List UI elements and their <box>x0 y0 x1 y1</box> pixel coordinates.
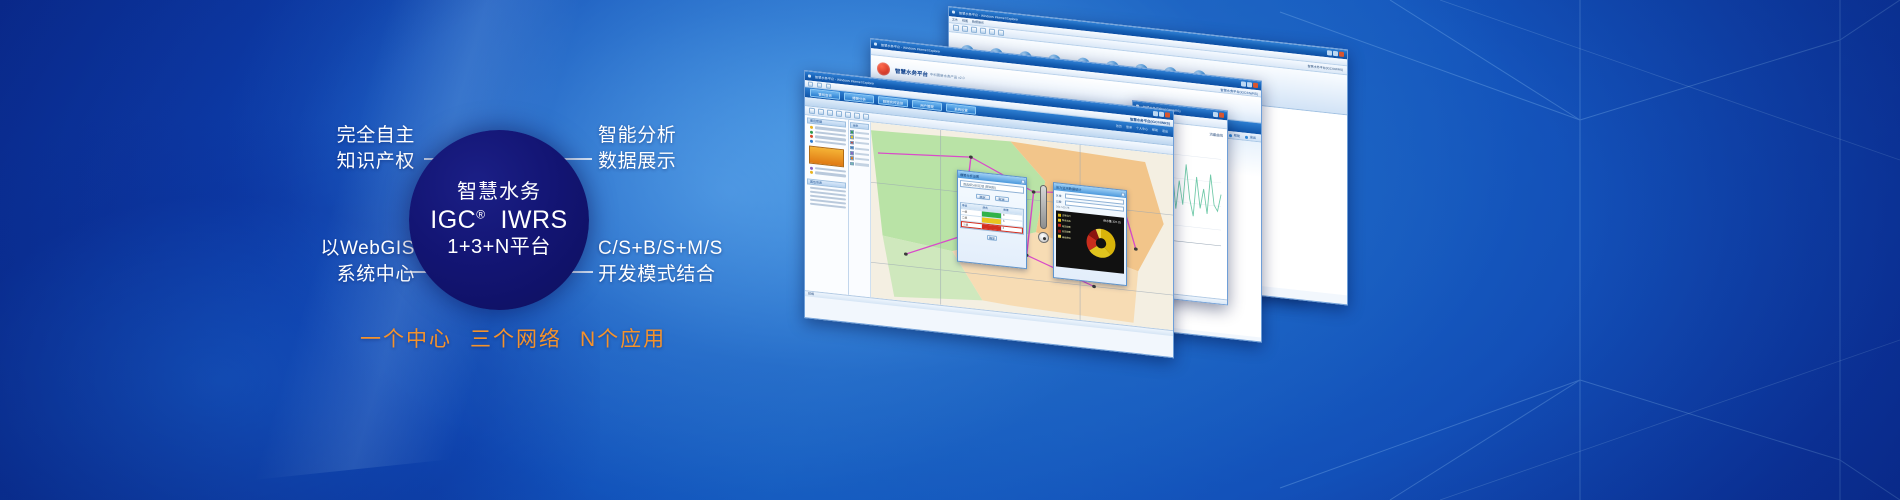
layer-color-swatch <box>810 135 813 138</box>
legend-swatch <box>850 135 854 139</box>
map-legend-panel[interactable]: 图例 <box>849 120 871 297</box>
subnav-link-help[interactable]: 帮助 <box>1152 128 1158 133</box>
zoom-out-icon[interactable] <box>827 109 833 116</box>
minimize-icon[interactable] <box>1213 112 1218 118</box>
close-icon[interactable] <box>1253 83 1258 89</box>
pie-chart-title: 供水量 322.25 <box>1103 219 1121 225</box>
feature-label-bottom-left-line1: 以WebGIS <box>290 236 415 262</box>
pie-legend-label: 警戒状态 <box>1062 218 1071 223</box>
close-icon[interactable] <box>1219 112 1224 118</box>
zoom-slider-icon[interactable] <box>1040 185 1047 230</box>
pie-legend-label: 超压报警 <box>1062 224 1071 229</box>
legend-swatch <box>850 141 854 145</box>
gis-map-canvas[interactable]: ■ ■ ■ ■ ■ ■ ■ ■ ■ 爆管分析设置 请选择分析区域 (管网段) <box>871 122 1173 330</box>
pie-legend-label: 低压报警 <box>1062 229 1071 234</box>
platform-diagram: 完全自主 知识产权 以WebGIS 系统中心 智能分析 数据展示 C/S+B/S… <box>0 0 800 500</box>
toolbar-button[interactable] <box>971 26 977 33</box>
toolbar-button[interactable] <box>998 29 1004 36</box>
menu-item-file[interactable]: 文件 <box>952 17 958 22</box>
close-icon[interactable] <box>1339 51 1344 57</box>
feature-label-bottom-left: 以WebGIS 系统中心 <box>290 236 415 287</box>
subnav-link-home[interactable]: 首页 <box>1116 124 1122 129</box>
legend-swatch <box>850 162 854 166</box>
layer-color-swatch <box>810 130 813 133</box>
print-icon[interactable] <box>863 113 869 120</box>
toolbar-button[interactable] <box>980 27 986 34</box>
maximize-icon[interactable] <box>1333 51 1338 57</box>
pie-legend-label: 正常运行 <box>1062 213 1071 218</box>
window-icon <box>808 74 811 77</box>
subnav-link-logout[interactable]: 退出 <box>1245 134 1256 140</box>
legend-swatch <box>850 130 854 134</box>
alarm-level-table: 等级 颜色 数量 一级 8 二级 <box>960 202 1024 235</box>
pie-legend: 正常运行 警戒状态 超压报警 低压报警 离线停运 <box>1056 210 1078 268</box>
product-screenshots: 影像底图 <box>780 0 1520 500</box>
map-navigation-control[interactable] <box>1037 184 1049 257</box>
hub-platform-model: 1+3+N平台 <box>447 235 551 259</box>
dialog-burst-analysis[interactable]: 爆管分析设置 请选择分析区域 (管网段) 确定 取消 等级 <box>957 170 1027 270</box>
window-front-gis[interactable]: 智慧水务平台 - Windows Internet Explorer 智慧水务平… <box>804 70 1174 358</box>
subnav-link-login[interactable]: 登录 <box>1126 125 1132 130</box>
feature-label-bottom-right-line1: C/S+B/S+M/S <box>598 236 723 262</box>
dialog-body: 请选择分析区域 (管网段) 确定 取消 等级 颜色 数量 <box>958 178 1026 246</box>
feature-label-top-left: 完全自主 知识产权 <box>305 123 415 174</box>
banner-tagline: 一个中心三个网络N个应用 <box>360 323 666 353</box>
portal-brand-sub: 中科图新水务产品 v2.0 <box>930 72 964 81</box>
subnav-link-help[interactable]: 帮助 <box>1229 132 1240 138</box>
select-tool-icon[interactable] <box>836 110 842 117</box>
minimize-icon[interactable] <box>1327 50 1332 56</box>
minimize-icon[interactable] <box>1241 81 1246 87</box>
window-controls[interactable] <box>1213 112 1224 118</box>
apply-button[interactable]: 确定 <box>987 235 997 241</box>
legend-swatch <box>850 151 854 155</box>
feature-label-top-right-line1: 智能分析 <box>598 123 676 149</box>
minimize-icon[interactable] <box>1153 111 1158 117</box>
tagline-part-3: N个应用 <box>580 328 666 351</box>
close-icon[interactable] <box>1121 192 1125 196</box>
feature-label-top-left-line1: 完全自主 <box>305 123 415 149</box>
toolbar-button[interactable] <box>826 83 831 89</box>
window-icon <box>874 42 877 45</box>
window-controls[interactable] <box>1241 81 1258 88</box>
measure-tool-icon[interactable] <box>845 111 851 118</box>
confirm-button[interactable]: 确定 <box>976 194 990 201</box>
hub-product-igc: IGC <box>430 206 476 234</box>
legend-swatch <box>850 146 854 150</box>
dialog-body: 区域： 日期： 2017-05-26 正常运行 <box>1054 190 1126 276</box>
feature-label-top-right: 智能分析 数据展示 <box>598 123 676 174</box>
toolbar-button[interactable] <box>953 25 959 32</box>
toolbar-button[interactable] <box>989 28 995 35</box>
tagline-part-2: 三个网络 <box>470 328 562 351</box>
feature-label-bottom-right-line2: 开发模式结合 <box>598 262 723 288</box>
layer-color-swatch <box>810 139 813 142</box>
legend-gradient-bar <box>809 145 844 167</box>
registered-mark-icon: ® <box>476 207 485 221</box>
date-filter-label: 日期： <box>1056 199 1064 204</box>
tagline-part-1: 一个中心 <box>360 328 452 351</box>
subnav-link-logout[interactable]: 退出 <box>1162 129 1168 134</box>
legend-item <box>850 162 869 168</box>
window-controls[interactable] <box>1153 111 1170 118</box>
close-icon[interactable] <box>1021 179 1025 183</box>
window-controls[interactable] <box>1327 50 1344 57</box>
layer-color-swatch <box>810 171 813 174</box>
pie-chart-panel: 正常运行 警戒状态 超压报警 低压报警 离线停运 供水量 322.25 <box>1056 210 1124 273</box>
close-icon[interactable] <box>1165 112 1170 118</box>
layer-color-swatch <box>810 166 813 169</box>
hub-product-iwrs: IWRS <box>500 206 567 234</box>
portal-brand-name: 智慧水务平台 <box>895 66 928 78</box>
water-drop-logo-icon <box>877 62 890 76</box>
feature-label-bottom-right: C/S+B/S+M/S 开发模式结合 <box>598 236 723 287</box>
window-icon <box>952 10 955 13</box>
menu-item-view[interactable]: 视图 <box>962 19 968 24</box>
feature-label-top-right-line2: 数据展示 <box>598 149 676 175</box>
toolbar-button[interactable] <box>817 82 822 88</box>
toolbar-button[interactable] <box>808 81 813 87</box>
layer-tree-panel[interactable]: 图层管理 属性信息 <box>805 115 849 295</box>
feature-label-bottom-left-line2: 系统中心 <box>290 262 415 288</box>
toolbar-button[interactable] <box>962 26 968 33</box>
dialog-pressure-stats[interactable]: 压力监测数据统计 区域： 日期： 20 <box>1053 182 1127 286</box>
pan-tool-icon[interactable] <box>1038 231 1049 243</box>
layer-color-swatch <box>810 126 813 129</box>
menu-item-data[interactable]: 数据操作 <box>972 20 984 25</box>
map-legend-title: 图例 <box>850 122 869 130</box>
region-filter-label: 区域： <box>1056 193 1064 198</box>
pie-chart-svg <box>1084 224 1118 262</box>
maximize-icon[interactable] <box>1159 112 1164 118</box>
table-cell-color <box>982 224 1001 230</box>
zoom-in-icon[interactable] <box>818 109 824 116</box>
pan-tool-icon[interactable] <box>809 108 815 115</box>
hub-product-name: IGC® IWRS <box>430 206 567 235</box>
hero-banner: 完全自主 知识产权 以WebGIS 系统中心 智能分析 数据展示 C/S+B/S… <box>0 0 1900 500</box>
hub-title: 智慧水务 <box>457 181 541 203</box>
identify-tool-icon[interactable] <box>854 112 860 119</box>
feature-label-top-left-line2: 知识产权 <box>305 149 415 175</box>
legend-swatch <box>850 156 854 160</box>
pie-legend-label: 离线停运 <box>1062 235 1071 240</box>
subnav-link-profile[interactable]: 个人中心 <box>1136 126 1148 131</box>
table-cell-count: 3 <box>1002 226 1022 232</box>
platform-hub-circle: 智慧水务 IGC® IWRS 1+3+N平台 <box>409 130 589 310</box>
maximize-icon[interactable] <box>1247 82 1252 88</box>
cancel-button[interactable]: 取消 <box>995 196 1009 203</box>
table-cell-level: 三级 <box>962 222 982 228</box>
